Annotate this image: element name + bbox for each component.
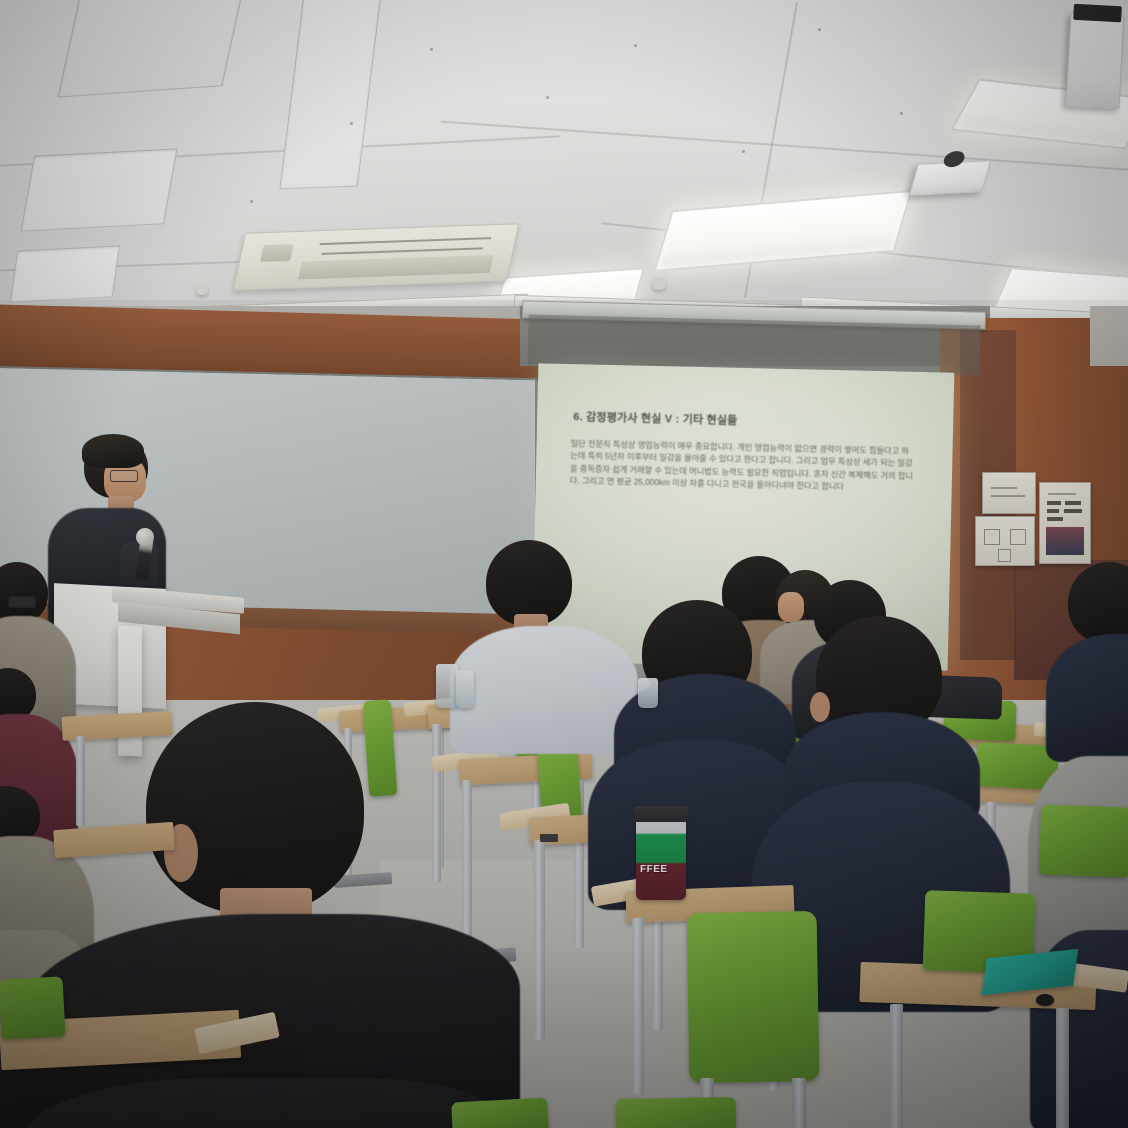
slide-title: 6. 감정평가사 현실 V : 기타 현실들: [573, 408, 738, 428]
water-bottle: [436, 664, 458, 708]
ceiling-tile: [10, 245, 120, 302]
microphone-head: [136, 528, 154, 546]
ceiling-light-panel: [653, 190, 912, 272]
attendee-torso: [450, 626, 638, 754]
sprinkler-head: [652, 277, 666, 290]
ceiling-tile: [58, 0, 245, 98]
ceiling-tile: [20, 148, 177, 231]
water-bottle: [456, 670, 474, 708]
wall-notice-text: [982, 472, 1036, 514]
cup-lid: [634, 806, 688, 822]
lecture-hall-photo: 6. 감정평가사 현실 V : 기타 현실들 일단 전문직 특성상 영업능력이 …: [0, 0, 1128, 1128]
presenter-glasses: [110, 470, 138, 482]
attendee-face: [778, 592, 804, 622]
foreground-attendee-head: [146, 702, 364, 914]
slide-body: 일단 전문직 특성상 영업능력이 매우 중요합니다. 개인 영업능력이 없으면 …: [570, 438, 921, 496]
ceiling-projector: [1066, 13, 1125, 110]
cup-label: FFEE: [640, 864, 668, 875]
iced-coffee-cup: FFEE: [636, 814, 686, 900]
wall-right-upper: [1090, 306, 1128, 366]
wall-notice-poster: [1039, 482, 1091, 564]
wall-notice-diagram: [975, 516, 1035, 566]
sprinkler-head: [196, 284, 208, 295]
water-bottle: [638, 678, 658, 708]
ceiling-speaker: [909, 160, 991, 196]
attendee-glasses: [8, 596, 36, 608]
ceiling-tile: [279, 0, 382, 189]
desk-object: [1036, 994, 1054, 1006]
presenter-hair: [82, 434, 144, 468]
ceiling: [0, 0, 1128, 330]
air-conditioner-vent: [233, 223, 520, 290]
attendee-ear: [810, 692, 830, 722]
